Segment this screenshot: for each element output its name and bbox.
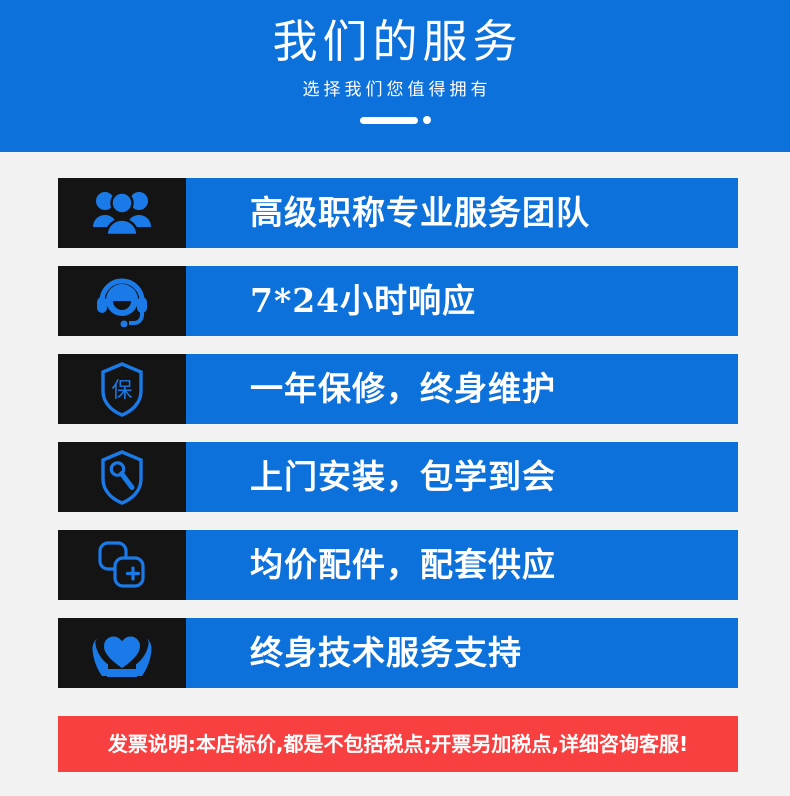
service-icon-container (58, 266, 186, 336)
service-label: 7*24小时响应 (250, 282, 476, 320)
service-label-container: 终身技术服务支持 (186, 618, 738, 688)
page-header: 我们的服务 选择我们您值得拥有 (0, 0, 790, 152)
invoice-notice-banner: 发票说明:本店标价,都是不包括税点;开票另加税点,详细咨询客服! (58, 716, 738, 772)
service-item[interactable]: 保 一年保修，终身维护 (58, 354, 738, 424)
service-item[interactable]: 均价配件，配套供应 (58, 530, 738, 600)
service-list: 高级职称专业服务团队 7*24小时响应 (58, 178, 738, 706)
service-label-container: 高级职称专业服务团队 (186, 178, 738, 248)
page-title: 我们的服务 (0, 0, 790, 70)
decoration-dot-icon (423, 116, 431, 124)
service-icon-container (58, 618, 186, 688)
shield-wrench-icon (99, 449, 145, 505)
hands-heart-icon (90, 628, 154, 678)
service-label: 高级职称专业服务团队 (250, 194, 590, 232)
service-label: 均价配件，配套供应 (250, 546, 556, 584)
service-icon-container (58, 530, 186, 600)
service-label: 上门安装，包学到会 (250, 458, 556, 496)
service-label-container: 均价配件，配套供应 (186, 530, 738, 600)
shield-warranty-icon: 保 (99, 361, 145, 417)
parts-plus-icon (95, 539, 149, 591)
users-group-icon (91, 189, 153, 237)
service-promo-page: 我们的服务 选择我们您值得拥有 高级职称专业服务团队 (0, 0, 790, 796)
service-item[interactable]: 高级职称专业服务团队 (58, 178, 738, 248)
service-item[interactable]: 终身技术服务支持 (58, 618, 738, 688)
service-icon-container: 保 (58, 354, 186, 424)
decoration-bar-icon (360, 117, 418, 124)
shield-warranty-character: 保 (112, 378, 133, 402)
service-item[interactable]: 上门安装，包学到会 (58, 442, 738, 512)
service-label: 一年保修，终身维护 (250, 370, 556, 408)
service-label-container: 7*24小时响应 (186, 266, 738, 336)
service-label-container: 上门安装，包学到会 (186, 442, 738, 512)
page-subtitle: 选择我们您值得拥有 (0, 70, 790, 102)
service-label-container: 一年保修，终身维护 (186, 354, 738, 424)
invoice-notice-text: 发票说明:本店标价,都是不包括税点;开票另加税点,详细咨询客服! (108, 731, 688, 757)
service-item[interactable]: 7*24小时响应 (58, 266, 738, 336)
header-decoration (0, 116, 790, 124)
service-label: 终身技术服务支持 (250, 634, 522, 672)
service-icon-container (58, 442, 186, 512)
service-icon-container (58, 178, 186, 248)
headset-support-icon (94, 275, 150, 327)
